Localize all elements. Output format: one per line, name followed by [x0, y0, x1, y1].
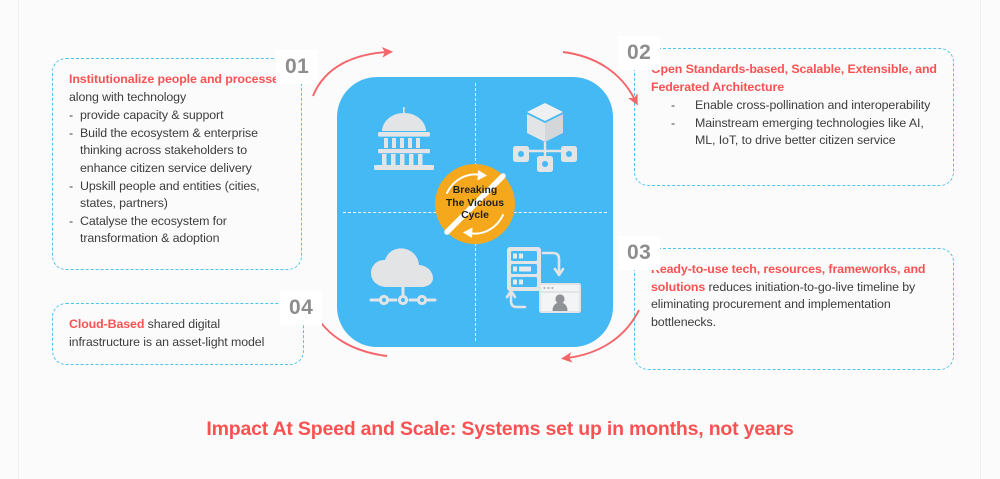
callout-04-highlight: Cloud-Based	[69, 317, 144, 331]
callout-01-lead-rest: along with technology	[69, 90, 186, 104]
list-item: -Upskill people and entities (cities, st…	[69, 178, 287, 213]
cloud-infrastructure-icon	[365, 247, 443, 309]
bullet-text: provide capacity & support	[80, 108, 223, 122]
bullet-dash: -	[69, 125, 73, 143]
bullet-dash: -	[671, 97, 675, 115]
callout-02-body: Open Standards-based, Scalable, Extensib…	[651, 61, 939, 150]
callout-01-highlight: Institutionalize people and processes	[69, 72, 286, 86]
bullet-text: Catalyse the ecosystem for transformatio…	[80, 214, 227, 246]
bullet-text: Build the ecosystem & enterprise thinkin…	[80, 126, 258, 175]
list-item: -Build the ecosystem & enterprise thinki…	[69, 125, 287, 178]
breaking-cycle-badge: Breaking The Vicious Cycle	[434, 163, 516, 245]
government-building-icon	[369, 105, 439, 171]
server-user-exchange-icon	[505, 245, 583, 315]
bullet-text: Enable cross-pollination and interoperab…	[695, 98, 930, 112]
list-item: -Mainstream emerging technologies like A…	[651, 115, 939, 150]
diagram-stage: Breaking The Vicious Cycle Institutional…	[0, 0, 1000, 479]
bullet-dash: -	[69, 107, 73, 125]
cube-network-architecture-icon	[509, 101, 581, 173]
callout-box-01[interactable]: Institutionalize people and processes al…	[52, 58, 302, 270]
badge-01: 01	[276, 50, 318, 84]
list-item: -Catalyse the ecosystem for transformati…	[69, 213, 287, 248]
bullet-text: Mainstream emerging technologies like AI…	[695, 116, 924, 148]
callout-box-02[interactable]: Open Standards-based, Scalable, Extensib…	[634, 48, 954, 186]
callout-02-highlight: Open Standards-based, Scalable, Extensib…	[651, 62, 937, 94]
bullet-text: Upskill people and entities (cities, sta…	[80, 179, 260, 211]
badge-03: 03	[618, 236, 660, 270]
callout-01-bullets: -provide capacity & support -Build the e…	[69, 107, 287, 248]
callout-01-body: Institutionalize people and processes al…	[69, 71, 287, 248]
bullet-dash: -	[69, 178, 73, 196]
callout-box-03[interactable]: Ready-to-use tech, resources, frameworks…	[634, 248, 954, 370]
badge-04: 04	[280, 291, 322, 325]
callout-03-body: Ready-to-use tech, resources, frameworks…	[651, 261, 939, 331]
bullet-dash: -	[671, 115, 675, 133]
list-item: -Enable cross-pollination and interopera…	[651, 97, 939, 115]
callout-box-04[interactable]: Cloud-Based shared digital infrastructur…	[52, 303, 304, 365]
bullet-dash: -	[69, 213, 73, 231]
footer-title: Impact At Speed and Scale: Systems set u…	[0, 418, 1000, 441]
list-item: -provide capacity & support	[69, 107, 287, 125]
callout-02-bullets: -Enable cross-pollination and interopera…	[651, 97, 939, 150]
callout-04-body: Cloud-Based shared digital infrastructur…	[69, 316, 289, 351]
badge-02: 02	[618, 36, 660, 70]
